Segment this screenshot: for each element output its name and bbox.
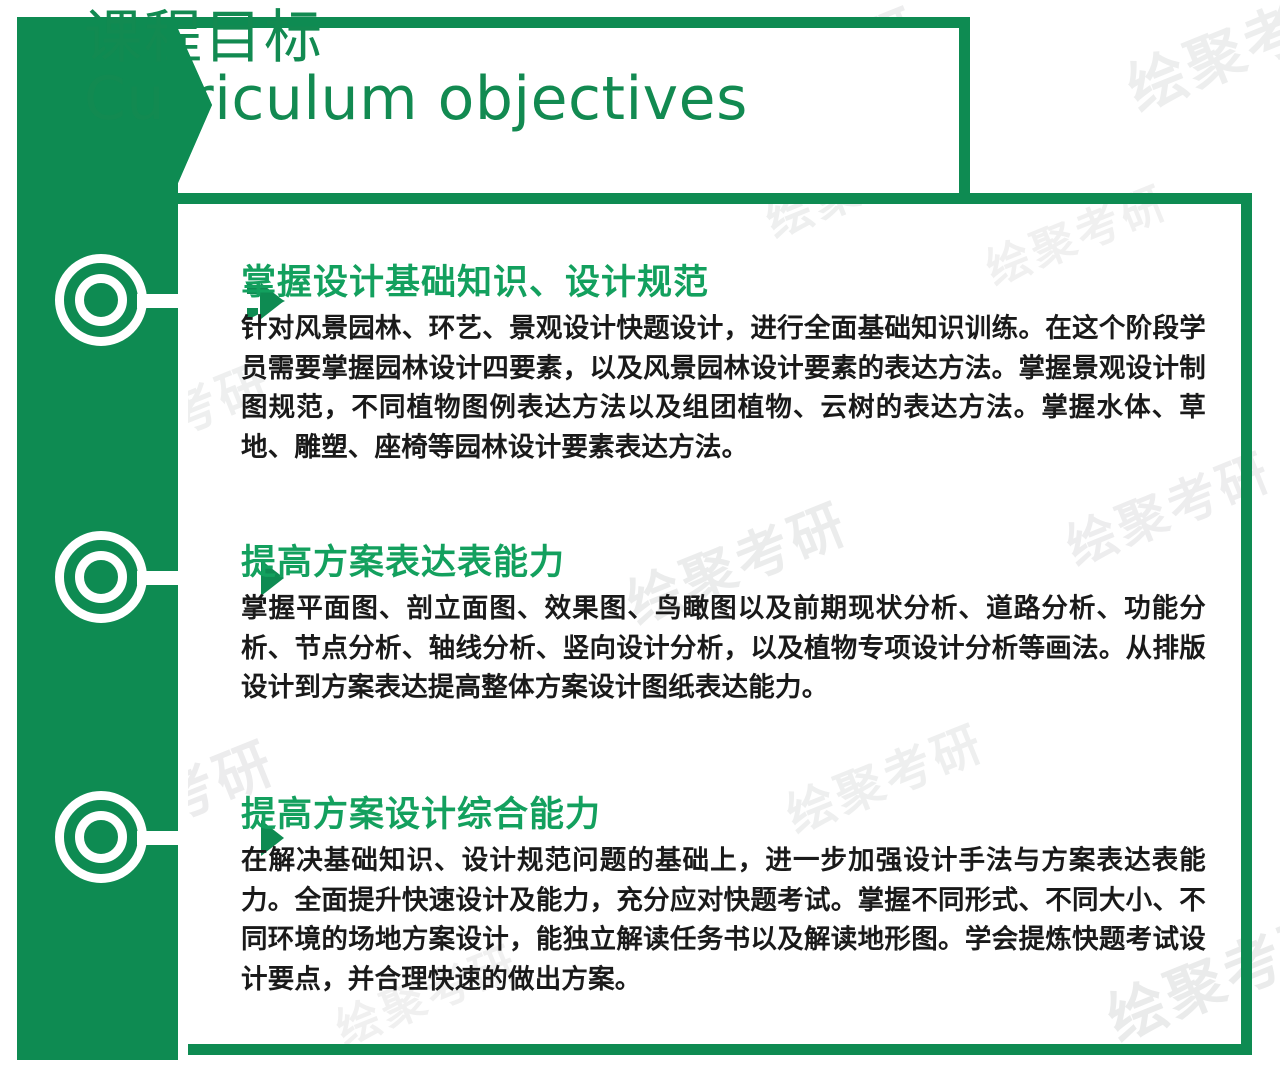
section-body: 针对风景园林、环艺、景观设计快题设计，进行全面基础知识训练。在这个阶段学员需要掌… bbox=[241, 309, 1206, 467]
objective-section-1: 掌握设计基础知识、设计规范 针对风景园林、环艺、景观设计快题设计，进行全面基础知… bbox=[241, 263, 1206, 467]
page-title-cn: 课程目标 bbox=[84, 8, 748, 66]
poster-root: 绘聚考研 绘聚考研 绘聚考研 绘聚考研 绘聚考研 绘聚考研 绘聚考研 绘聚考研 … bbox=[0, 0, 1280, 1086]
watermark: 绘聚考研 bbox=[1113, 0, 1280, 127]
section-heading: 掌握设计基础知识、设计规范 bbox=[241, 263, 1206, 303]
left-green-panel bbox=[17, 17, 178, 1060]
section-heading: 提高方案表达表能力 bbox=[241, 543, 1206, 583]
frame-left-mask bbox=[178, 193, 188, 1060]
section-body: 掌握平面图、剖立面图、效果图、鸟瞰图以及前期现状分析、道路分析、功能分析、节点分… bbox=[241, 589, 1206, 707]
section-heading: 提高方案设计综合能力 bbox=[241, 795, 1206, 835]
section-body: 在解决基础知识、设计规范问题的基础上，进一步加强设计手法与方案表达表能力。全面提… bbox=[241, 841, 1206, 999]
title-group: 课程目标 Curriculum objectives bbox=[84, 8, 748, 131]
objective-section-2: 提高方案表达表能力 掌握平面图、剖立面图、效果图、鸟瞰图以及前期现状分析、道路分… bbox=[241, 543, 1206, 708]
page-title-en: Curriculum objectives bbox=[84, 68, 748, 131]
objective-section-3: 提高方案设计综合能力 在解决基础知识、设计规范问题的基础上，进一步加强设计手法与… bbox=[241, 795, 1206, 999]
